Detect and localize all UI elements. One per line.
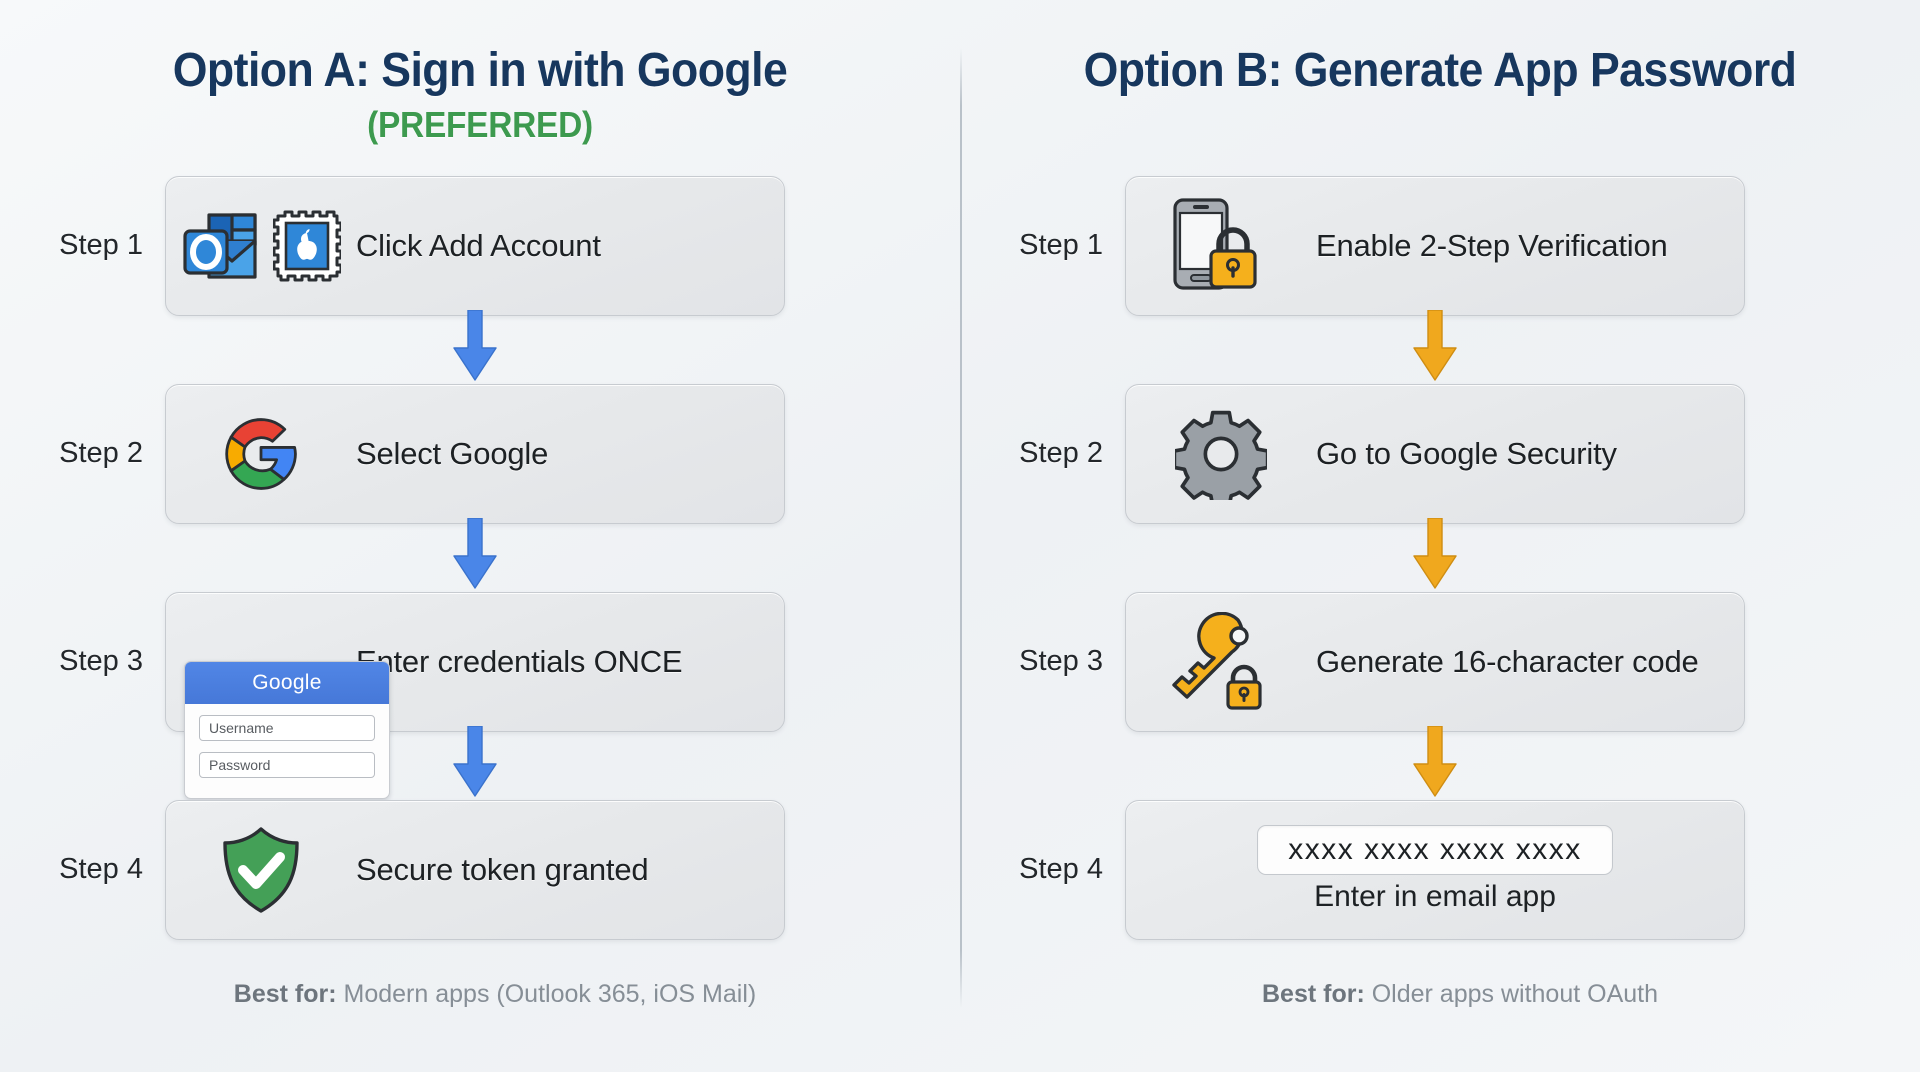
key-with-lock-icon	[1126, 612, 1316, 712]
option-a-step-3-row: Step 3 Google Username Password Enter cr…	[0, 592, 960, 732]
down-arrow-icon	[1404, 726, 1466, 800]
option-a-step-1-box[interactable]: Click Add Account	[165, 176, 785, 316]
phone-with-lock-icon	[1126, 196, 1316, 296]
option-a-footer-text: Modern apps (Outlook 365, iOS Mail)	[337, 980, 757, 1008]
down-arrow-icon	[444, 310, 506, 384]
option-a-step-4-box[interactable]: Secure token granted	[165, 800, 785, 940]
option-a-step-1-label: Step 1	[0, 229, 165, 262]
option-b-arrow-1	[960, 316, 1920, 384]
option-a-footer-prefix: Best for:	[234, 980, 337, 1008]
option-b-footer-prefix: Best for:	[1262, 980, 1365, 1008]
option-b-steps: Step 1 Enable	[960, 176, 1920, 940]
outlook-icon	[181, 209, 259, 283]
option-a-arrow-1	[0, 316, 960, 384]
option-b-step-2-box[interactable]: Go to Google Security	[1125, 384, 1745, 524]
option-b-step-3-box[interactable]: Generate 16-character code	[1125, 592, 1745, 732]
down-arrow-icon	[444, 726, 506, 800]
app-password-caption: Enter in email app	[1314, 880, 1556, 914]
google-g-logo-icon	[166, 413, 356, 495]
option-a-step-3-label: Step 3	[0, 645, 165, 678]
option-b-column: Option B: Generate App Password Step 1	[960, 0, 1920, 1072]
option-a-arrow-2	[0, 524, 960, 592]
option-a-step-3-box[interactable]: Google Username Password Enter credentia…	[165, 592, 785, 732]
login-mockup-header: Google	[185, 662, 389, 704]
option-b-step-4-box[interactable]: xxxx xxxx xxxx xxxx Enter in email app	[1125, 800, 1745, 940]
option-b-step-1-row: Step 1 Enable	[960, 176, 1920, 316]
down-arrow-icon	[444, 518, 506, 592]
option-a-steps: Step 1	[0, 176, 960, 940]
option-b-footer: Best for: Older apps without OAuth	[960, 980, 1920, 1009]
option-a-subtitle: (PREFERRED)	[34, 104, 927, 146]
option-a-step-2-row: Step 2 Select Google	[0, 384, 960, 524]
option-b-arrow-2	[960, 524, 1920, 592]
option-b-step-2-text: Go to Google Security	[1316, 436, 1617, 472]
option-b-step-3-text: Generate 16-character code	[1316, 644, 1699, 680]
gear-icon	[1126, 408, 1316, 500]
app-password-code-box: xxxx xxxx xxxx xxxx Enter in email app	[1126, 825, 1744, 914]
app-password-code-value[interactable]: xxxx xxxx xxxx xxxx	[1257, 825, 1613, 875]
apple-mail-stamp-icon	[273, 209, 341, 283]
option-a-step-3-text: Enter credentials ONCE	[356, 644, 682, 680]
option-b-step-2-label: Step 2	[960, 437, 1125, 470]
option-a-step-2-box[interactable]: Select Google	[165, 384, 785, 524]
option-a-arrow-3	[0, 732, 960, 800]
option-a-step-1-row: Step 1	[0, 176, 960, 316]
option-a-step-2-label: Step 2	[0, 437, 165, 470]
option-b-title: Option B: Generate App Password	[994, 44, 1887, 98]
option-b-arrow-3	[960, 732, 1920, 800]
green-shield-check-icon	[166, 824, 356, 916]
down-arrow-icon	[1404, 518, 1466, 592]
option-a-step-2-text: Select Google	[356, 436, 548, 472]
option-b-step-4-row: Step 4 xxxx xxxx xxxx xxxx Enter in emai…	[960, 800, 1920, 940]
option-b-step-1-text: Enable 2-Step Verification	[1316, 228, 1668, 264]
option-a-title: Option A: Sign in with Google	[34, 44, 927, 98]
option-a-step-4-row: Step 4 Secure token granted	[0, 800, 960, 940]
option-b-step-1-label: Step 1	[960, 229, 1125, 262]
option-b-step-4-label: Step 4	[960, 853, 1125, 886]
option-b-step-3-row: Step 3 Ge	[960, 592, 1920, 732]
option-a-column: Option A: Sign in with Google (PREFERRED…	[0, 0, 960, 1072]
option-a-footer: Best for: Modern apps (Outlook 365, iOS …	[0, 980, 960, 1009]
option-a-step-4-text: Secure token granted	[356, 852, 648, 888]
option-a-step-4-label: Step 4	[0, 853, 165, 886]
option-b-footer-text: Older apps without OAuth	[1365, 980, 1658, 1008]
option-b-step-2-row: Step 2 Go to Google Security	[960, 384, 1920, 524]
outlook-and-apple-mail-icons	[166, 209, 356, 283]
comparison-diagram: Option A: Sign in with Google (PREFERRED…	[0, 0, 1920, 1072]
option-b-step-3-label: Step 3	[960, 645, 1125, 678]
down-arrow-icon	[1404, 310, 1466, 384]
option-b-step-1-box[interactable]: Enable 2-Step Verification	[1125, 176, 1745, 316]
option-a-step-1-text: Click Add Account	[356, 228, 601, 264]
